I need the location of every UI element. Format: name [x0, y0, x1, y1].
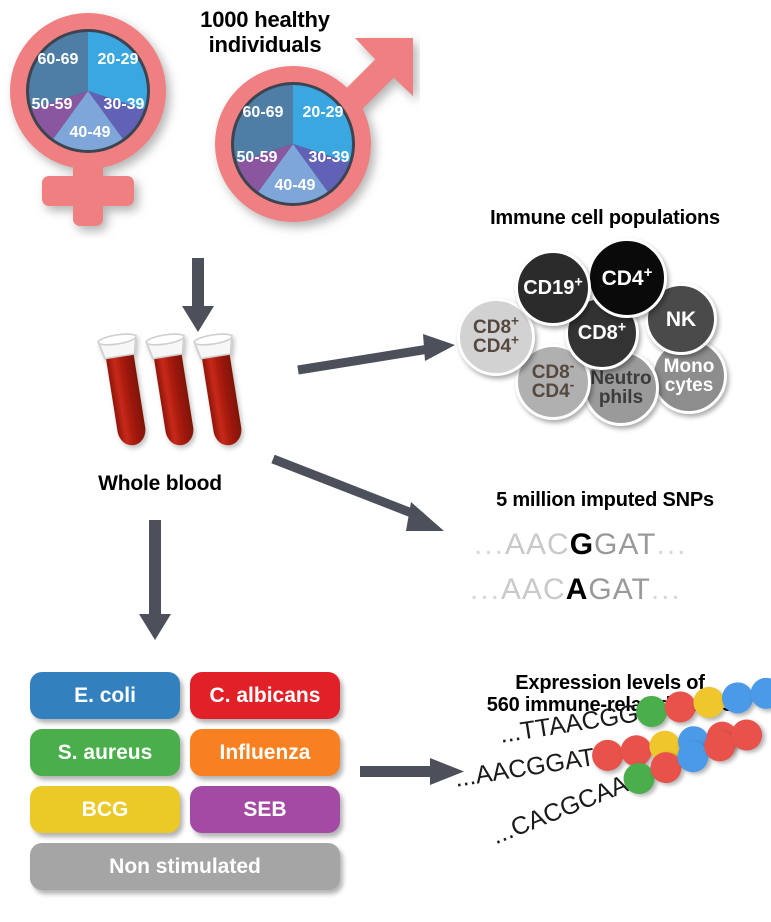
- arrow-blood-to-snp: [270, 455, 460, 540]
- expression-strands: ...TTAACGG...AACGGAT...CACGCAA: [455, 712, 771, 912]
- pie-label-20-29: 20-29: [98, 51, 139, 68]
- whole-blood-label: Whole blood: [60, 472, 260, 496]
- immune-title: Immune cell populations: [450, 207, 760, 229]
- stim-box-non-stimulated[interactable]: Non stimulated: [30, 843, 340, 890]
- expression-bead: [691, 685, 726, 720]
- immune-cell-label: CD8+: [578, 323, 626, 343]
- male-symbol: 20-29 30-39 40-49 50-59 60-69: [205, 30, 420, 240]
- pie-label-50-59: 50-59: [32, 96, 73, 113]
- immune-cell-label: CD8+CD4+: [473, 318, 519, 356]
- stimulation-panel: E. coli C. albicans S. aureus Influenza …: [30, 672, 340, 900]
- expression-bead: [720, 680, 755, 715]
- stimulation-row: BCG SEB: [30, 786, 340, 833]
- immune-cell-label: CD4+: [602, 268, 653, 289]
- immune-cell-label: Monocytes: [664, 357, 715, 395]
- snp-sequence-row: ...AACAGAT...: [470, 573, 682, 607]
- venus-symbol-icon: 20-29 30-39 40-49 50-59 60-69: [0, 8, 200, 238]
- snp-after: GAT: [588, 573, 650, 606]
- snp-variant: G: [570, 528, 594, 561]
- immune-cell-label: NK: [666, 309, 696, 330]
- pie-label-20-29: 20-29: [303, 104, 344, 121]
- immune-cell-cd4: CD4+: [587, 238, 667, 318]
- expression-bead: [662, 689, 697, 724]
- stim-box-bcg[interactable]: BCG: [30, 786, 180, 833]
- female-symbol: 20-29 30-39 40-49 50-59 60-69: [0, 8, 200, 238]
- pie-label-40-49: 40-49: [275, 177, 316, 194]
- snp-suffix-dots: ...: [657, 528, 688, 561]
- stimulation-row: S. aureus Influenza: [30, 729, 340, 776]
- stimulation-row: Non stimulated: [30, 843, 340, 890]
- snp-title: 5 million imputed SNPs: [455, 489, 755, 511]
- pie-label-60-69: 60-69: [243, 104, 284, 121]
- pie-label-40-49: 40-49: [70, 124, 111, 141]
- snp-variant: A: [566, 573, 589, 606]
- mars-symbol-icon: 20-29 30-39 40-49 50-59 60-69: [205, 30, 420, 240]
- immune-cell-label: CD19+: [523, 278, 583, 298]
- pie-label-30-39: 30-39: [104, 96, 145, 113]
- stim-box-seb[interactable]: SEB: [190, 786, 340, 833]
- immune-cell-cd19: CD19+: [515, 250, 591, 326]
- stim-box-e-coli[interactable]: E. coli: [30, 672, 180, 719]
- arrow-cohort-to-blood: [180, 258, 220, 338]
- snp-prefix-dots: ...: [474, 528, 505, 561]
- immune-cell-label: Neutrophils: [590, 369, 651, 407]
- blood-tubes-icon: [95, 332, 255, 477]
- pie-label-60-69: 60-69: [38, 51, 79, 68]
- pie-label-50-59: 50-59: [237, 149, 278, 166]
- snp-before: AAC: [501, 573, 566, 606]
- stimulation-row: E. coli C. albicans: [30, 672, 340, 719]
- snp-before: AAC: [505, 528, 570, 561]
- pie-label-30-39: 30-39: [309, 149, 350, 166]
- immune-cell-cluster: CD19+CD4+NKCD8+CD8+CD4+CD8-CD4-Neutrophi…: [455, 238, 770, 423]
- stim-box-c-albicans[interactable]: C. albicans: [190, 672, 340, 719]
- arrow-blood-to-stimulation: [137, 520, 177, 645]
- snp-after: GAT: [594, 528, 656, 561]
- expression-bead: [748, 676, 771, 711]
- snp-sequences: ...AACGGAT... ...AACAGAT...: [470, 528, 760, 618]
- immune-cell-label: CD8-CD4-: [532, 363, 575, 401]
- snp-sequence-row: ...AACGGAT...: [474, 528, 688, 562]
- stim-box-influenza[interactable]: Influenza: [190, 729, 340, 776]
- stim-box-s-aureus[interactable]: S. aureus: [30, 729, 180, 776]
- snp-prefix-dots: ...: [470, 573, 501, 606]
- arrow-blood-to-immune: [295, 330, 460, 380]
- snp-suffix-dots: ...: [651, 573, 682, 606]
- figure-canvas: 1000 healthy individuals: [0, 0, 771, 922]
